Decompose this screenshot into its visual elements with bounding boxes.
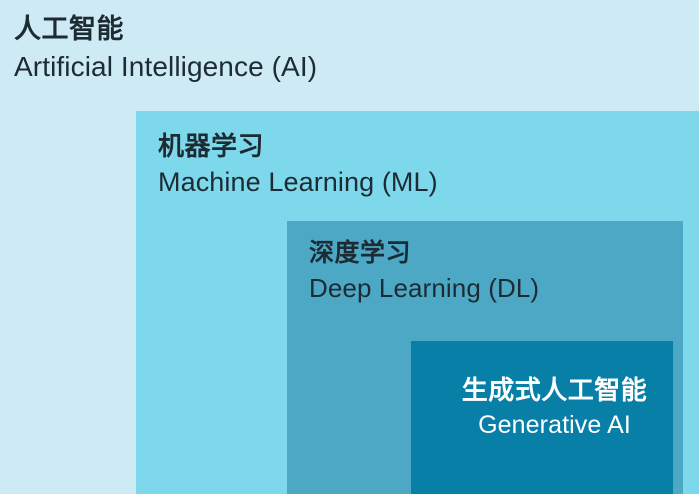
label-deep-learning: 深度学习 Deep Learning (DL) [309,241,539,301]
layer-machine-learning: 机器学习 Machine Learning (ML) 深度学习 Deep Lea… [136,111,699,494]
label-artificial-intelligence: 人工智能 Artificial Intelligence (AI) [14,16,317,81]
label-generative-ai: 生成式人工智能 Generative AI [432,377,677,438]
label-genai-english: Generative AI [432,413,677,438]
layer-deep-learning: 深度学习 Deep Learning (DL) 生成式人工智能 Generati… [287,221,683,494]
label-ml-chinese: 机器学习 [158,133,438,159]
label-ai-chinese: 人工智能 [14,16,317,43]
label-dl-chinese: 深度学习 [309,241,539,266]
label-ml-english: Machine Learning (ML) [158,169,438,196]
layer-artificial-intelligence: 人工智能 Artificial Intelligence (AI) 机器学习 M… [0,0,699,494]
label-dl-english: Deep Learning (DL) [309,275,539,301]
layer-generative-ai: 生成式人工智能 Generative AI [411,341,673,494]
concept-diagram: 人工智能 Artificial Intelligence (AI) 机器学习 M… [0,0,699,494]
label-machine-learning: 机器学习 Machine Learning (ML) [158,133,438,196]
label-genai-chinese: 生成式人工智能 [432,377,677,403]
label-ai-english: Artificial Intelligence (AI) [14,53,317,81]
